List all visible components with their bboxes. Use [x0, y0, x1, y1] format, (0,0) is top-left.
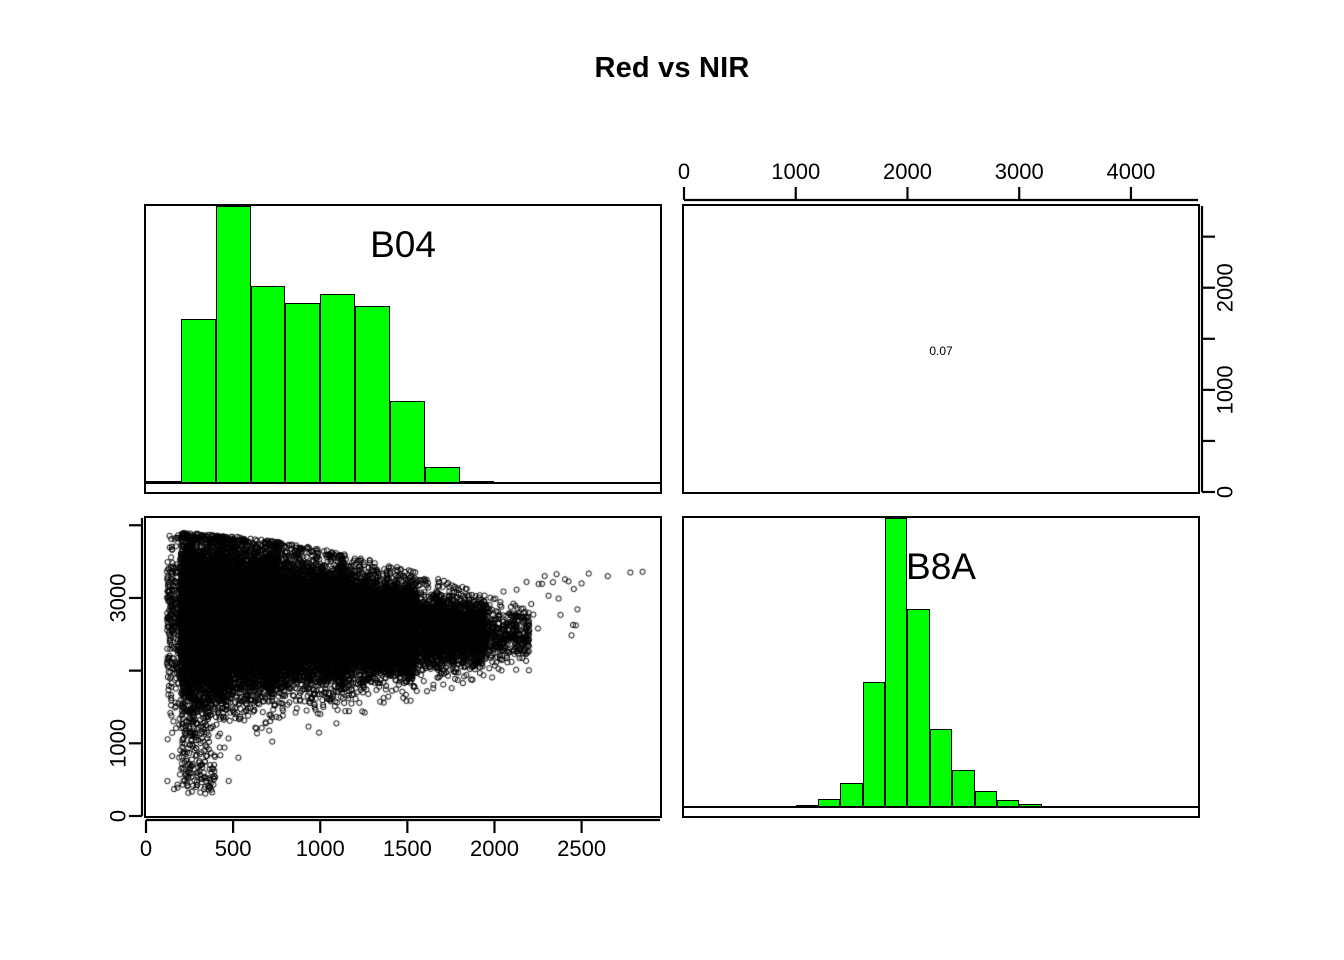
axis-tick-label: 2000	[470, 836, 519, 861]
histogram-baseline	[146, 482, 660, 484]
histogram-bar	[251, 286, 286, 484]
axis-tick-label: 1500	[383, 836, 432, 861]
histogram-bar	[216, 206, 251, 484]
axis-tick-label: 3000	[995, 159, 1044, 184]
histogram-bar	[952, 770, 974, 808]
panel-b8a-histogram[interactable]: B8A	[682, 516, 1200, 818]
histogram-bar	[930, 729, 952, 808]
axis-tick-label: 500	[215, 836, 252, 861]
axis-tick-label: 2500	[557, 836, 606, 861]
axis-tick-label: 1000	[106, 719, 131, 768]
axis-tick-label: 1000	[771, 159, 820, 184]
plot-root: Red vs NIR 01000200030004000 010002000 0…	[0, 0, 1344, 960]
axis-tick-label: 0	[1213, 486, 1238, 498]
page-title: Red vs NIR	[0, 52, 1344, 85]
histogram-bar	[320, 294, 355, 485]
axis-tick-label: 1000	[296, 836, 345, 861]
panel-scatter-b04-b8a[interactable]	[144, 516, 662, 818]
correlation-value: 0.07	[684, 344, 1198, 358]
histogram-bar	[863, 682, 885, 808]
axis-tick-label: 2000	[883, 159, 932, 184]
axis-tick-label: 4000	[1106, 159, 1155, 184]
histogram-bar	[285, 303, 320, 484]
axis-tick-label: 2000	[1213, 263, 1238, 312]
histogram-bar	[355, 306, 390, 484]
histogram-baseline	[684, 806, 1198, 808]
histogram-bar	[885, 518, 907, 808]
axis-tick-label: 0	[678, 159, 690, 184]
histogram-bars-b04	[146, 206, 660, 492]
axis-tick-label: 0	[106, 810, 131, 822]
axis-right: 010002000	[1200, 204, 1310, 494]
histogram-bar	[390, 401, 425, 484]
panel-correlation[interactable]: 0.07	[682, 204, 1200, 494]
axis-top: 01000200030004000	[682, 160, 1200, 206]
axis-tick-label: 1000	[1213, 365, 1238, 414]
axis-tick-label: 3000	[106, 573, 131, 622]
panel-b04-histogram[interactable]: B04	[144, 204, 662, 494]
histogram-bar	[181, 319, 216, 484]
histogram-bars-b8a	[684, 518, 1198, 816]
scatter-points	[146, 518, 660, 816]
axis-tick-label: 0	[140, 836, 152, 861]
histogram-bar	[907, 609, 929, 808]
axis-left: 010003000	[64, 516, 144, 818]
axis-bottom: 05001000150020002500	[144, 818, 662, 878]
histogram-bar	[840, 783, 862, 808]
